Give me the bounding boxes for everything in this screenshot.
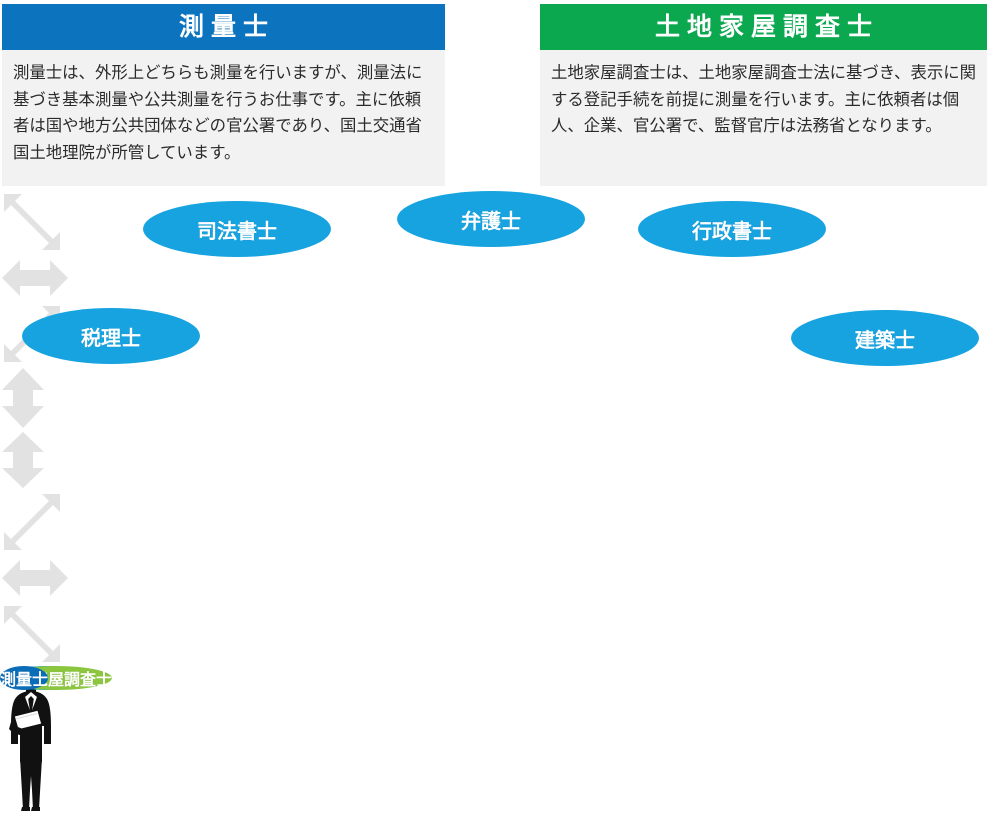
diagram-node-label: 税理士	[81, 322, 141, 351]
panel-title-surveyor: 測量士	[2, 4, 445, 50]
arrow-horizontal-zeirishi	[0, 254, 70, 302]
diagram-node-label: 建築士	[855, 324, 915, 353]
diagram-node-kenchiku[interactable]: 建築士	[791, 310, 979, 366]
diagram-node-label: 行政書士	[692, 215, 772, 244]
arrow-diagonal-shiho	[0, 190, 64, 254]
diagram-node-label: 司法書士	[197, 215, 277, 244]
panel-body-surveyor: 測量士は、外形上どちらも測量を行いますが、測量法に基づき基本測量や公共測量を行う…	[2, 50, 445, 186]
diagram-node-label: 測量士	[0, 666, 48, 690]
businessman-silhouette-icon	[0, 666, 987, 816]
panel-title-investigator: 土地家屋調査士	[540, 4, 987, 50]
diagram-node-zeirishi[interactable]: 税理士	[22, 308, 200, 364]
comparison-panel-investigator: 土地家屋調査士 土地家屋調査士は、土地家屋調査士法に基づき、表示に関する登記手続…	[540, 4, 987, 186]
diagram-node-sokuryoshi[interactable]: 測量士	[0, 666, 48, 690]
diagram-node-gyosei-shoshi[interactable]: 行政書士	[638, 201, 826, 257]
relationship-diagram: 司法書士 弁護士 行政書士 税理士 建築士 行政 不動産鑑定士 土地家屋調査士 …	[0, 190, 987, 500]
diagram-node-shiho[interactable]: 司法書士	[143, 201, 331, 257]
arrow-vertical-bengoshi	[0, 366, 46, 430]
arrow-horizontal-kenchiku	[0, 554, 70, 602]
diagram-node-bengoshi[interactable]: 弁護士	[397, 191, 585, 247]
arrow-vertical-sokuryoshi	[0, 430, 46, 490]
arrow-diagonal-kanteishi	[0, 602, 64, 666]
diagram-node-label: 弁護士	[461, 205, 521, 234]
comparison-panel-surveyor: 測量士 測量士は、外形上どちらも測量を行いますが、測量法に基づき基本測量や公共測…	[2, 4, 445, 186]
panel-body-investigator: 土地家屋調査士は、土地家屋調査士法に基づき、表示に関する登記手続を前提に測量を行…	[540, 50, 987, 186]
